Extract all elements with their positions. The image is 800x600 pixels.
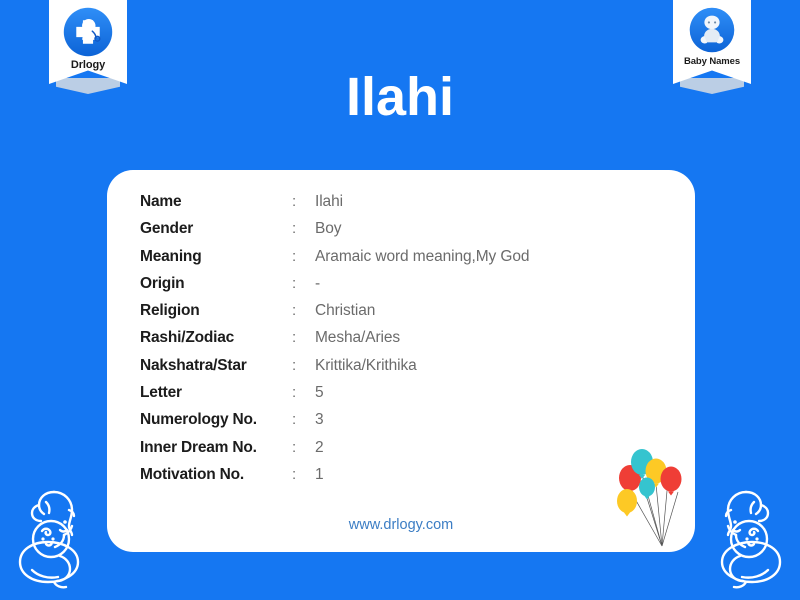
row-value: - [315, 275, 320, 293]
row-separator: : [292, 384, 315, 401]
table-row: Origin : - [140, 275, 660, 302]
row-value: 2 [315, 439, 324, 457]
table-row: Gender : Boy [140, 220, 660, 247]
row-separator: : [292, 357, 315, 374]
row-separator: : [292, 466, 315, 483]
baby-sitting-icon [689, 7, 735, 53]
badge-label: Drlogy [49, 59, 127, 72]
row-separator: : [292, 220, 315, 237]
badge-label: Baby Names [673, 55, 751, 68]
row-label: Letter [140, 384, 292, 402]
table-row: Name : Ilahi [140, 193, 660, 220]
table-row: Inner Dream No. : 2 [140, 439, 660, 466]
details-table: Name : Ilahi Gender : Boy Meaning : Aram… [140, 193, 660, 493]
mother-and-baby-icon [2, 478, 98, 598]
row-separator: : [292, 248, 315, 265]
ribbon-body: Baby Names [673, 0, 751, 84]
row-value: Boy [315, 220, 341, 238]
row-value: 3 [315, 411, 324, 429]
drlogy-brand-badge[interactable]: Drlogy [49, 0, 127, 84]
table-row: Religion : Christian [140, 302, 660, 329]
row-value: 5 [315, 384, 324, 402]
row-label: Numerology No. [140, 411, 292, 429]
row-label: Origin [140, 275, 292, 293]
doctor-cross-icon [63, 7, 113, 57]
mother-and-baby-icon [702, 478, 798, 598]
row-value: Christian [315, 302, 375, 320]
row-value: 1 [315, 466, 324, 484]
row-value: Krittika/Krithika [315, 357, 417, 375]
row-label: Name [140, 193, 292, 211]
row-label: Rashi/Zodiac [140, 329, 292, 347]
row-value: Ilahi [315, 193, 343, 211]
row-separator: : [292, 193, 315, 210]
row-separator: : [292, 439, 315, 456]
row-separator: : [292, 329, 315, 346]
table-row: Motivation No. : 1 [140, 466, 660, 493]
row-label: Religion [140, 302, 292, 320]
table-row: Nakshatra/Star : Krittika/Krithika [140, 357, 660, 384]
website-url-link[interactable]: www.drlogy.com [107, 517, 695, 533]
row-separator: : [292, 302, 315, 319]
row-value: Aramaic word meaning,My God [315, 248, 529, 266]
row-separator: : [292, 411, 315, 428]
row-label: Gender [140, 220, 292, 238]
ribbon-body: Drlogy [49, 0, 127, 84]
table-row: Meaning : Aramaic word meaning,My God [140, 248, 660, 275]
row-label: Meaning [140, 248, 292, 266]
row-label: Motivation No. [140, 466, 292, 484]
row-label: Nakshatra/Star [140, 357, 292, 375]
table-row: Numerology No. : 3 [140, 411, 660, 438]
row-label: Inner Dream No. [140, 439, 292, 457]
row-separator: : [292, 275, 315, 292]
table-row: Rashi/Zodiac : Mesha/Aries [140, 329, 660, 356]
row-value: Mesha/Aries [315, 329, 400, 347]
name-details-card: Name : Ilahi Gender : Boy Meaning : Aram… [107, 170, 695, 552]
table-row: Letter : 5 [140, 384, 660, 411]
baby-names-badge[interactable]: Baby Names [673, 0, 751, 84]
